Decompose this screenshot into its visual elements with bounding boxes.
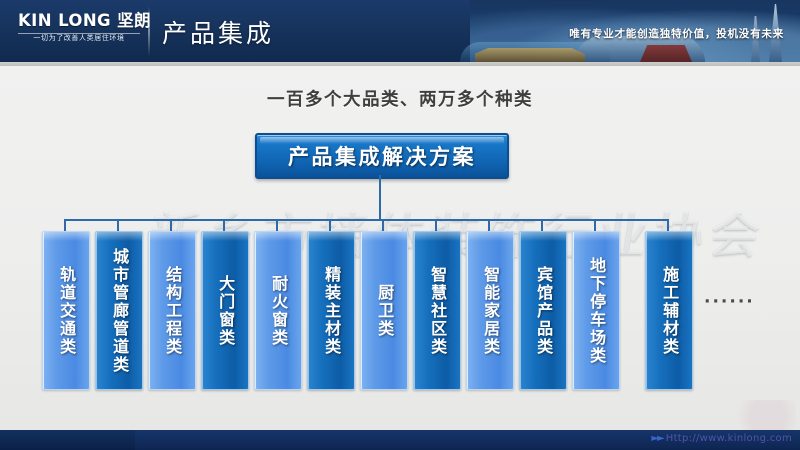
connector-drop <box>64 219 66 231</box>
arrow-icon: ►► <box>651 433 662 444</box>
page-header: KIN LONG 坚朗 一切为了改善人类居住环境 产品集成 唯有专业才能创造独特… <box>0 0 800 62</box>
category-box[interactable]: 地下停车场类 <box>572 231 620 390</box>
category-label: 精装主材类 <box>323 266 339 356</box>
category-label: 结构工程类 <box>164 266 180 356</box>
header-slogan: 唯有专业才能创造独特价值，投机没有未来 <box>569 26 784 41</box>
category-box-highlight <box>467 232 513 241</box>
connector-drop <box>382 219 384 231</box>
category-label: 耐火窗类 <box>270 275 286 347</box>
category-box-highlight <box>255 232 301 241</box>
category-box-highlight <box>646 232 692 241</box>
category-box-highlight <box>361 232 407 241</box>
connector-drop <box>435 219 437 231</box>
connector-drop <box>276 219 278 231</box>
header-gold-building-icon <box>475 48 585 62</box>
footer-left-block <box>0 430 135 450</box>
subtitle: 一百多个大品类、两万多个种类 <box>0 86 800 111</box>
connector-drop <box>170 219 172 231</box>
brand-logo-tagline: 一切为了改善人类居住环境 <box>18 33 140 44</box>
category-box[interactable]: 城市管廊管道类 <box>95 231 143 390</box>
category-label: 城市管廊管道类 <box>111 248 127 374</box>
connector-drop <box>667 219 669 231</box>
category-label: 施工辅材类 <box>661 266 677 356</box>
category-box-highlight <box>414 232 460 241</box>
category-label: 地下停车场类 <box>588 257 604 365</box>
category-box-highlight <box>96 232 142 241</box>
category-box-highlight <box>520 232 566 241</box>
root-node-label: 产品集成解决方案 <box>288 141 476 171</box>
category-box-highlight <box>43 232 89 241</box>
category-label: 智能家居类 <box>482 266 498 356</box>
category-box[interactable]: 精装主材类 <box>307 231 355 390</box>
category-label: 轨道交通类 <box>58 266 74 356</box>
connector-drop <box>541 219 543 231</box>
header-divider <box>148 6 150 56</box>
category-label: 智慧社区类 <box>429 266 445 356</box>
category-box[interactable]: 轨道交通类 <box>42 231 90 390</box>
category-label: 厨卫类 <box>376 284 392 338</box>
connector-stem <box>379 175 381 220</box>
footer-url-text: Http://www.kinlong.com <box>666 433 792 444</box>
footer-url[interactable]: ►►Http://www.kinlong.com <box>651 433 792 444</box>
category-box[interactable]: 智慧社区类 <box>413 231 461 390</box>
connector-bus <box>64 219 668 221</box>
page-title: 产品集成 <box>162 14 274 50</box>
category-box-highlight <box>573 232 619 241</box>
category-box[interactable]: 施工辅材类 <box>645 231 693 390</box>
category-box-highlight <box>308 232 354 241</box>
category-box[interactable]: 大门窗类 <box>201 231 249 390</box>
category-box[interactable]: 智能家居类 <box>466 231 514 390</box>
header-underline <box>0 62 800 66</box>
category-box-highlight <box>202 232 248 241</box>
corner-watermark <box>726 400 796 430</box>
category-row: 轨道交通类 城市管廊管道类 结构工程类 大门窗类 耐火窗类 精装主材类 厨卫类 <box>0 231 800 391</box>
brand-logo: KIN LONG 坚朗 一切为了改善人类居住环境 <box>18 11 140 44</box>
more-categories-ellipsis: ······ <box>704 292 755 312</box>
category-box[interactable]: 耐火窗类 <box>254 231 302 390</box>
connector-drop <box>223 219 225 231</box>
category-box-highlight <box>149 232 195 241</box>
brand-logo-divider <box>18 33 140 34</box>
category-box[interactable]: 结构工程类 <box>148 231 196 390</box>
connector-drop <box>488 219 490 231</box>
root-node: 产品集成解决方案 <box>255 133 509 179</box>
slide-canvas: KIN LONG 坚朗 一切为了改善人类居住环境 产品集成 唯有专业才能创造独特… <box>0 0 800 450</box>
connector-drop <box>117 219 119 231</box>
connector-drop <box>329 219 331 231</box>
header-red-pavilion-icon <box>640 45 692 62</box>
category-label: 大门窗类 <box>217 275 233 347</box>
connector-drop <box>594 219 596 231</box>
category-box[interactable]: 宾馆产品类 <box>519 231 567 390</box>
category-label: 宾馆产品类 <box>535 266 551 356</box>
brand-logo-main: KIN LONG 坚朗 <box>18 11 140 30</box>
category-box[interactable]: 厨卫类 <box>360 231 408 390</box>
